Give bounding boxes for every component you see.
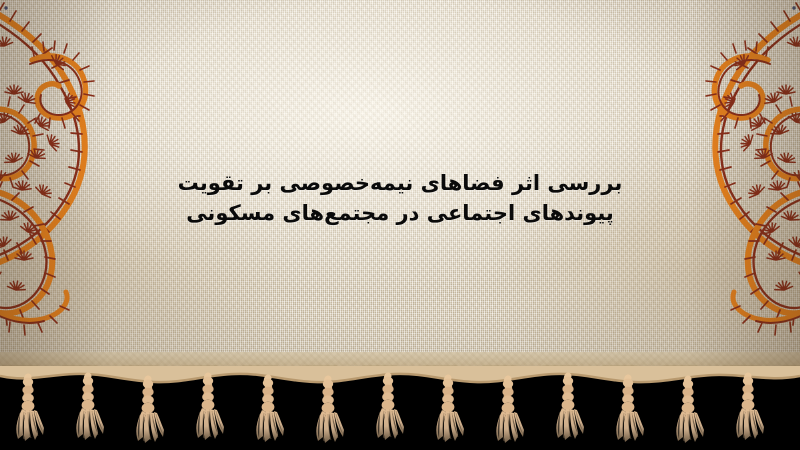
title-line-2: پیوندهای اجتماعی در مجتمع‌های مسکونی — [0, 198, 800, 228]
textile-banner: بررسی اثر فضاهای نیمه‌خصوصی بر تقویت پیو… — [0, 0, 800, 450]
page-title: بررسی اثر فضاهای نیمه‌خصوصی بر تقویت پیو… — [0, 168, 800, 228]
tassel-fringe-icon — [0, 366, 800, 450]
title-line-1: بررسی اثر فضاهای نیمه‌خصوصی بر تقویت — [0, 168, 800, 198]
